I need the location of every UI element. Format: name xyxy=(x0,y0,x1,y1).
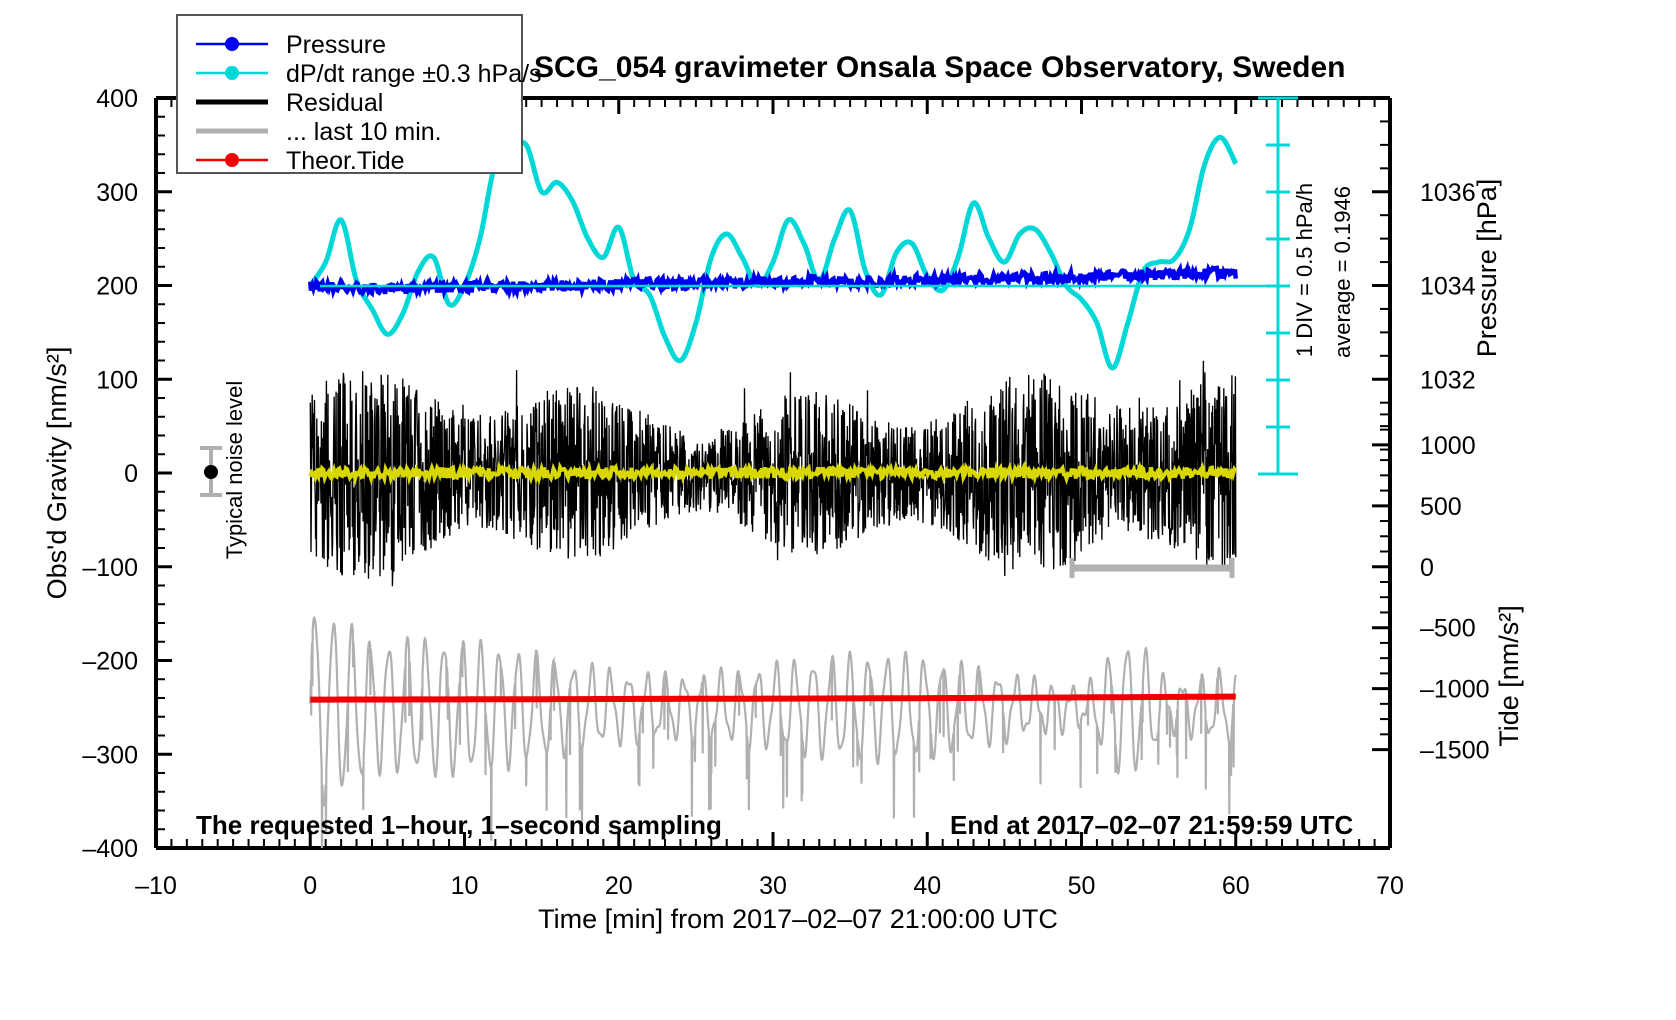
y-left-tick-label: –100 xyxy=(82,554,138,582)
y-right-pressure-tick-label: 1036 xyxy=(1420,179,1476,207)
legend-marker-dot xyxy=(225,66,239,80)
x-tick-label: –10 xyxy=(135,872,177,900)
y-right-tide-tick-label: –1500 xyxy=(1420,737,1490,765)
typical-noise-level-label: Typical noise level xyxy=(222,381,247,560)
y-left-axis-title: Obs'd Gravity [nm/s²] xyxy=(42,347,72,600)
x-tick-label: 40 xyxy=(913,872,941,900)
y-right-pressure-axis-title: Pressure [hPa] xyxy=(1472,179,1502,358)
caption-left: The requested 1–hour, 1–second sampling xyxy=(196,810,722,840)
y-left-tick-label: –300 xyxy=(82,741,138,769)
y-left-tick-label: 400 xyxy=(96,85,138,113)
div-scale-annotation: 1 DIV = 0.5 hPa/h xyxy=(1292,183,1317,357)
y-left-tick-label: 0 xyxy=(124,460,138,488)
y-right-tide-tick-label: 500 xyxy=(1420,493,1462,521)
y-right-tide-axis-title: Tide [nm/s²] xyxy=(1494,605,1524,747)
x-tick-label: 0 xyxy=(303,872,317,900)
x-tick-label: 70 xyxy=(1376,872,1404,900)
x-tick-label: 60 xyxy=(1222,872,1250,900)
y-left-tick-label: 300 xyxy=(96,179,138,207)
x-tick-label: 50 xyxy=(1068,872,1096,900)
page-title: SCG_054 gravimeter Onsala Space Observat… xyxy=(534,51,1346,84)
chart-figure: –10010203040506070 4003002001000–100–200… xyxy=(0,0,1676,1020)
x-axis-title: Time [min] from 2017–02–07 21:00:00 UTC xyxy=(538,904,1058,934)
y-left-tick-label: 100 xyxy=(96,366,138,394)
x-tick-label: 30 xyxy=(759,872,787,900)
legend-label: Pressure xyxy=(286,31,386,59)
y-left-tick-label: –400 xyxy=(82,835,138,863)
y-right-tide-tick-label: 0 xyxy=(1420,554,1434,582)
chart-svg: –10010203040506070 4003002001000–100–200… xyxy=(0,0,1676,1020)
y-right-pressure-tick-label: 1032 xyxy=(1420,366,1476,394)
x-tick-label: 10 xyxy=(451,872,479,900)
y-right-tide-tick-label: 1000 xyxy=(1420,432,1476,460)
caption-right: End at 2017–02–07 21:59:59 UTC xyxy=(950,810,1353,840)
y-left-tick-label: –200 xyxy=(82,648,138,676)
legend-label: Residual xyxy=(286,89,383,117)
legend-label: ... last 10 min. xyxy=(286,118,442,146)
x-tick-label: 20 xyxy=(605,872,633,900)
legend-marker-dot xyxy=(225,153,239,167)
y-left-tick-label: 200 xyxy=(96,273,138,301)
legend-label: Theor.Tide xyxy=(286,147,405,175)
y-right-pressure-tick-label: 1034 xyxy=(1420,273,1476,301)
y-right-tide-tick-label: –1000 xyxy=(1420,676,1490,704)
average-annotation: average = 0.1946 xyxy=(1330,186,1355,358)
legend[interactable]: PressuredP/dt range ±0.3 hPa/sResidual..… xyxy=(177,15,542,175)
legend-label: dP/dt range ±0.3 hPa/s xyxy=(286,60,542,88)
series-theoretical-tide xyxy=(310,697,1236,700)
legend-marker-dot xyxy=(225,37,239,51)
y-right-tide-tick-label: –500 xyxy=(1420,615,1476,643)
